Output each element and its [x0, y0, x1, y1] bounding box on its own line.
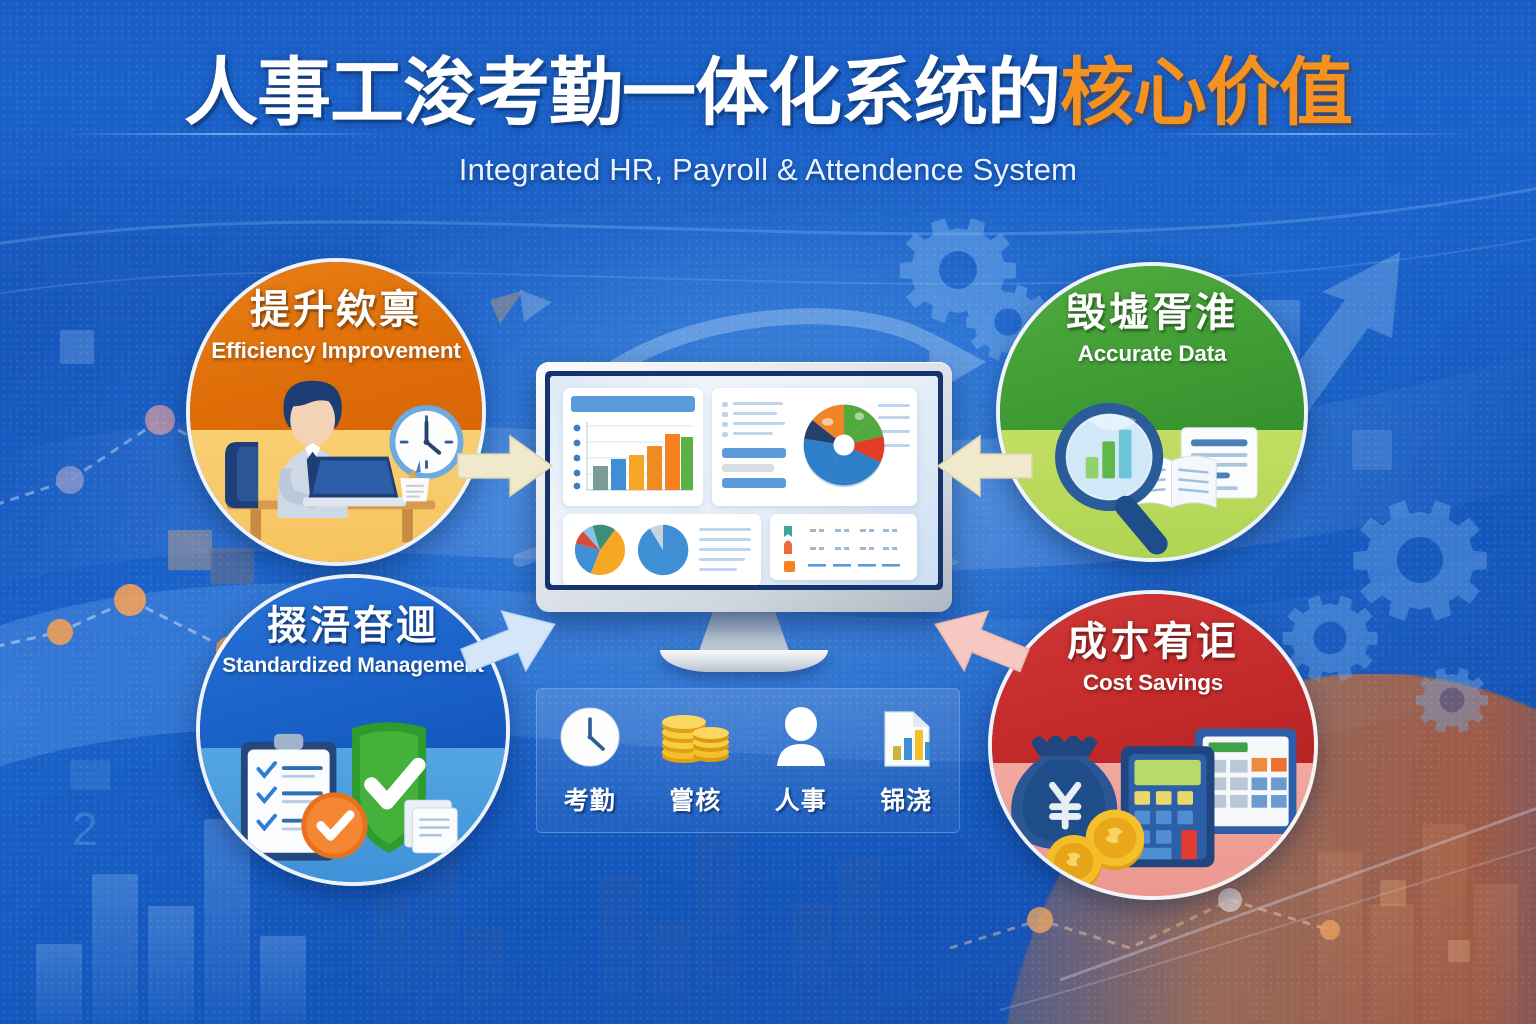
feature-hr[interactable]: 人事 — [748, 704, 854, 817]
dashboard-pies-card[interactable] — [563, 514, 761, 585]
infographic-canvas: 2 人事工浚考勤一体化系统的核心价值 Integrated HR, Payrol… — [0, 0, 1536, 1024]
page-title: 人事工浚考勤一体化系统的核心价值 — [0, 56, 1536, 130]
chart-file-icon — [854, 704, 960, 768]
dashboard-bar-chart-card[interactable] — [563, 388, 703, 506]
monitor-stand-base — [660, 650, 828, 672]
bubble-efficiency-caption: 提升欸禀 Efficiency Improvement — [190, 289, 482, 364]
bubble-efficiency-cn: 提升欸禀 — [190, 289, 482, 331]
header: 人事工浚考勤一体化系统的核心价值 Integrated HR, Payroll … — [0, 56, 1536, 188]
monitor-inner-frame — [545, 371, 943, 590]
feature-icon-bar: 考勤 — [536, 688, 960, 833]
feature-reports-label: 铞浇 — [854, 781, 960, 817]
arrow-standardized-to-monitor — [456, 596, 566, 693]
feature-hr-label: 人事 — [748, 781, 854, 817]
page-title-accent: 核心价值 — [1060, 51, 1352, 134]
arrow-accurate-to-monitor — [928, 428, 1038, 511]
title-rule-left — [60, 133, 390, 135]
monitor — [536, 362, 952, 612]
dashboard-screen[interactable] — [550, 376, 938, 585]
feature-payroll-label: 嘗核 — [643, 781, 749, 817]
bubble-accurate-en: Accurate Data — [1000, 341, 1304, 367]
title-rule-right — [1146, 133, 1476, 135]
feature-attendance[interactable]: 考勤 — [537, 704, 643, 817]
dashboard-table-card[interactable] — [770, 514, 917, 580]
clock-icon — [537, 704, 643, 768]
coins-icon — [643, 704, 749, 768]
person-icon — [748, 704, 854, 768]
bubble-accurate-data[interactable]: 毁墟胥淮 Accurate Data — [996, 262, 1308, 562]
arrow-efficiency-to-monitor — [452, 428, 562, 511]
bar-chart-plot — [571, 418, 695, 502]
bubble-accurate-caption: 毁墟胥淮 Accurate Data — [1000, 292, 1304, 367]
page-subtitle: Integrated HR, Payroll & Attendence Syst… — [0, 152, 1536, 188]
donut-chart-plot — [796, 397, 892, 493]
monitor-stand-neck — [698, 612, 790, 654]
table-rows — [770, 514, 917, 580]
pie-chart-left — [572, 522, 628, 578]
bubble-efficiency-en: Efficiency Improvement — [190, 338, 482, 364]
page-title-main: 人事工浚考勤一体化系统的 — [184, 51, 1060, 134]
arrow-cost-to-monitor — [924, 596, 1034, 693]
bubble-accurate-cn: 毁墟胥淮 — [1000, 292, 1304, 334]
feature-attendance-label: 考勤 — [537, 781, 643, 817]
dashboard-donut-card[interactable] — [712, 388, 917, 506]
bubble-cost-en: Cost Savings — [992, 670, 1314, 696]
bubble-efficiency[interactable]: 提升欸禀 Efficiency Improvement — [186, 258, 486, 566]
feature-payroll[interactable]: 嘗核 — [643, 704, 749, 817]
feature-reports[interactable]: 铞浇 — [854, 704, 960, 817]
bar-chart-header-bar — [571, 396, 695, 412]
pie-chart-right — [635, 522, 691, 578]
